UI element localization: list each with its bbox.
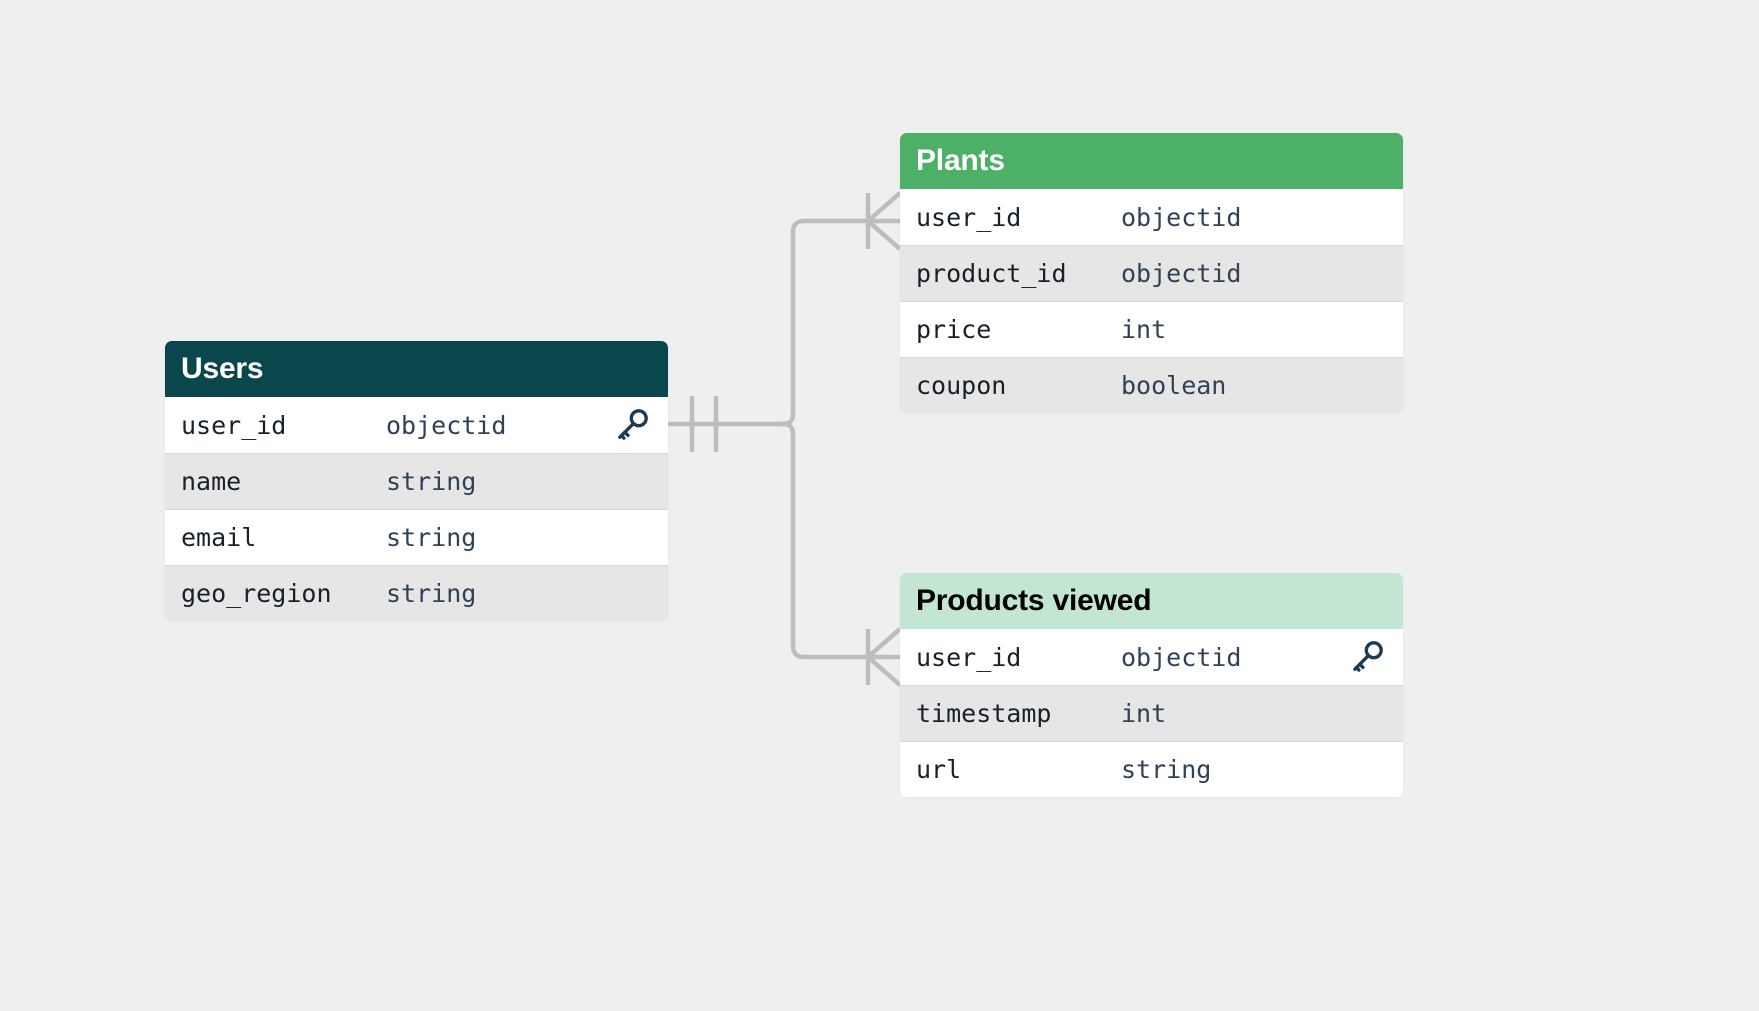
field-type: objectid [386,411,506,440]
key-icon [1349,639,1385,675]
field-name: user_id [916,203,1121,232]
cardinality-many-products-viewed [868,629,900,685]
entity-title-plants: Plants [916,146,1005,176]
field-row[interactable]: couponboolean [900,357,1403,413]
cardinality-many-plants [868,193,900,249]
field-name: url [916,755,1121,784]
diagram-canvas: Usersuser_idobjectidnamestringemailstrin… [0,0,1759,1011]
cardinality-one-users [692,396,716,452]
entity-title-products_viewed: Products viewed [916,586,1151,616]
entity-header-products_viewed: Products viewed [900,573,1403,629]
connector-to-products-viewed [775,424,872,657]
field-type: string [386,579,476,608]
field-type: string [1121,755,1211,784]
entity-header-users: Users [165,341,668,397]
field-name: timestamp [916,699,1121,728]
field-name: geo_region [181,579,386,608]
field-row[interactable]: product_idobjectid [900,245,1403,301]
key-icon [614,407,650,443]
field-row[interactable]: user_idobjectid [900,189,1403,245]
field-row[interactable]: namestring [165,453,668,509]
field-name: coupon [916,371,1121,400]
field-name: email [181,523,386,552]
entity-table-users[interactable]: Usersuser_idobjectidnamestringemailstrin… [165,341,668,621]
field-row[interactable]: user_idobjectid [900,629,1403,685]
entity-fields-plants: user_idobjectidproduct_idobjectidpricein… [900,189,1403,413]
connector-to-plants [775,221,872,424]
field-row[interactable]: urlstring [900,741,1403,797]
entity-fields-users: user_idobjectidnamestringemailstringgeo_… [165,397,668,621]
field-type: string [386,467,476,496]
field-name: product_id [916,259,1121,288]
entity-table-plants[interactable]: Plantsuser_idobjectidproduct_idobjectidp… [900,133,1403,413]
field-type: boolean [1121,371,1226,400]
field-type: int [1121,315,1166,344]
field-row[interactable]: user_idobjectid [165,397,668,453]
field-row[interactable]: priceint [900,301,1403,357]
field-type: objectid [1121,643,1241,672]
field-type: string [386,523,476,552]
field-name: user_id [916,643,1121,672]
entity-fields-products_viewed: user_idobjectidtimestampinturlstring [900,629,1403,797]
field-name: user_id [181,411,386,440]
field-name: name [181,467,386,496]
field-type: objectid [1121,259,1241,288]
field-row[interactable]: geo_regionstring [165,565,668,621]
entity-header-plants: Plants [900,133,1403,189]
field-row[interactable]: emailstring [165,509,668,565]
entity-title-users: Users [181,354,263,384]
field-name: price [916,315,1121,344]
entity-table-products_viewed[interactable]: Products vieweduser_idobjectidtimestampi… [900,573,1403,797]
field-type: int [1121,699,1166,728]
field-row[interactable]: timestampint [900,685,1403,741]
field-type: objectid [1121,203,1241,232]
